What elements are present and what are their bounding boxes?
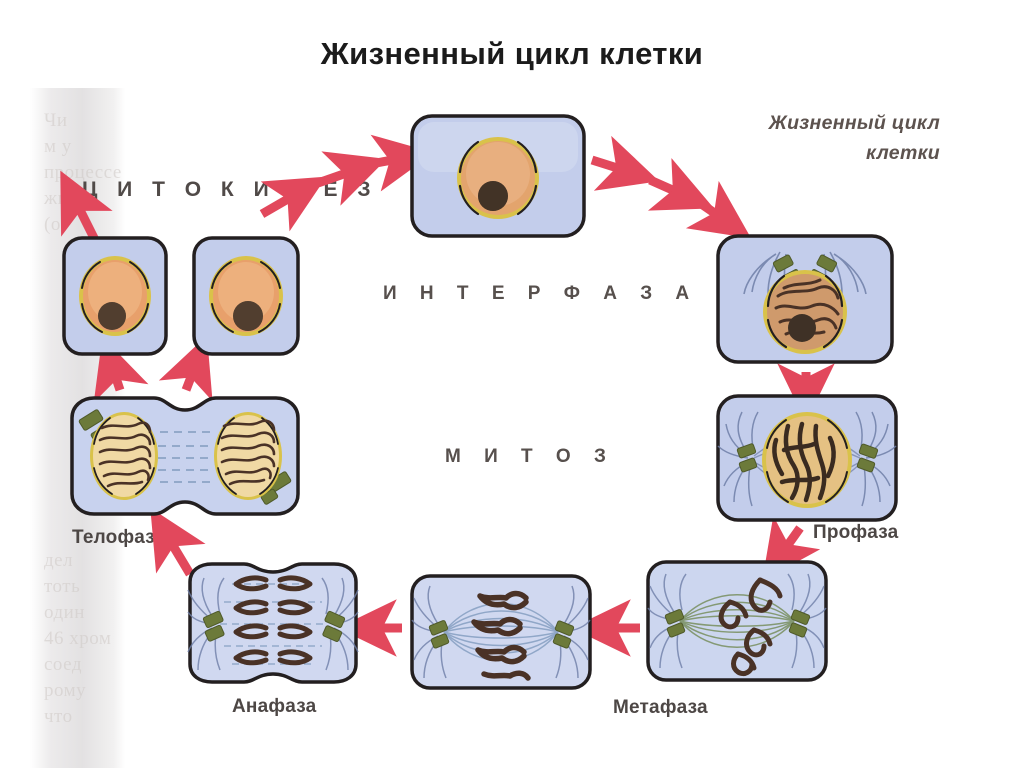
arrow-telophase-to-cytokinesis-right xyxy=(186,364,196,390)
arrow-cytokinesis-to-interphase-2 xyxy=(318,169,358,183)
metaphase-plate-cell xyxy=(408,572,594,692)
cytokinesis-cell-right xyxy=(190,234,302,358)
arrow-cytokinesis-to-interphase-1 xyxy=(262,192,300,214)
prophase-cell xyxy=(714,392,900,524)
anaphase-cell xyxy=(178,558,368,688)
cytokinesis-cell-left xyxy=(60,234,170,358)
metaphase-cell xyxy=(644,558,830,684)
arrow-telophase-to-cytokinesis-left xyxy=(112,366,120,390)
interphase-cell xyxy=(408,112,588,240)
arrow-interphase-to-prophase-2 xyxy=(650,180,686,196)
cell-cycle-diagram: Чи м у процессе жив (ог дел тоть один 46… xyxy=(0,0,1024,768)
telophase-cell xyxy=(62,392,308,520)
arrow-interphase-to-prophase-3 xyxy=(700,203,726,221)
arrow-interphase-to-prophase-1 xyxy=(592,160,630,172)
arrow-cytokinesis-to-interphase-3 xyxy=(376,158,404,163)
arrow-prophase-to-metaphase xyxy=(780,528,800,556)
early-prophase-cell xyxy=(714,232,896,366)
